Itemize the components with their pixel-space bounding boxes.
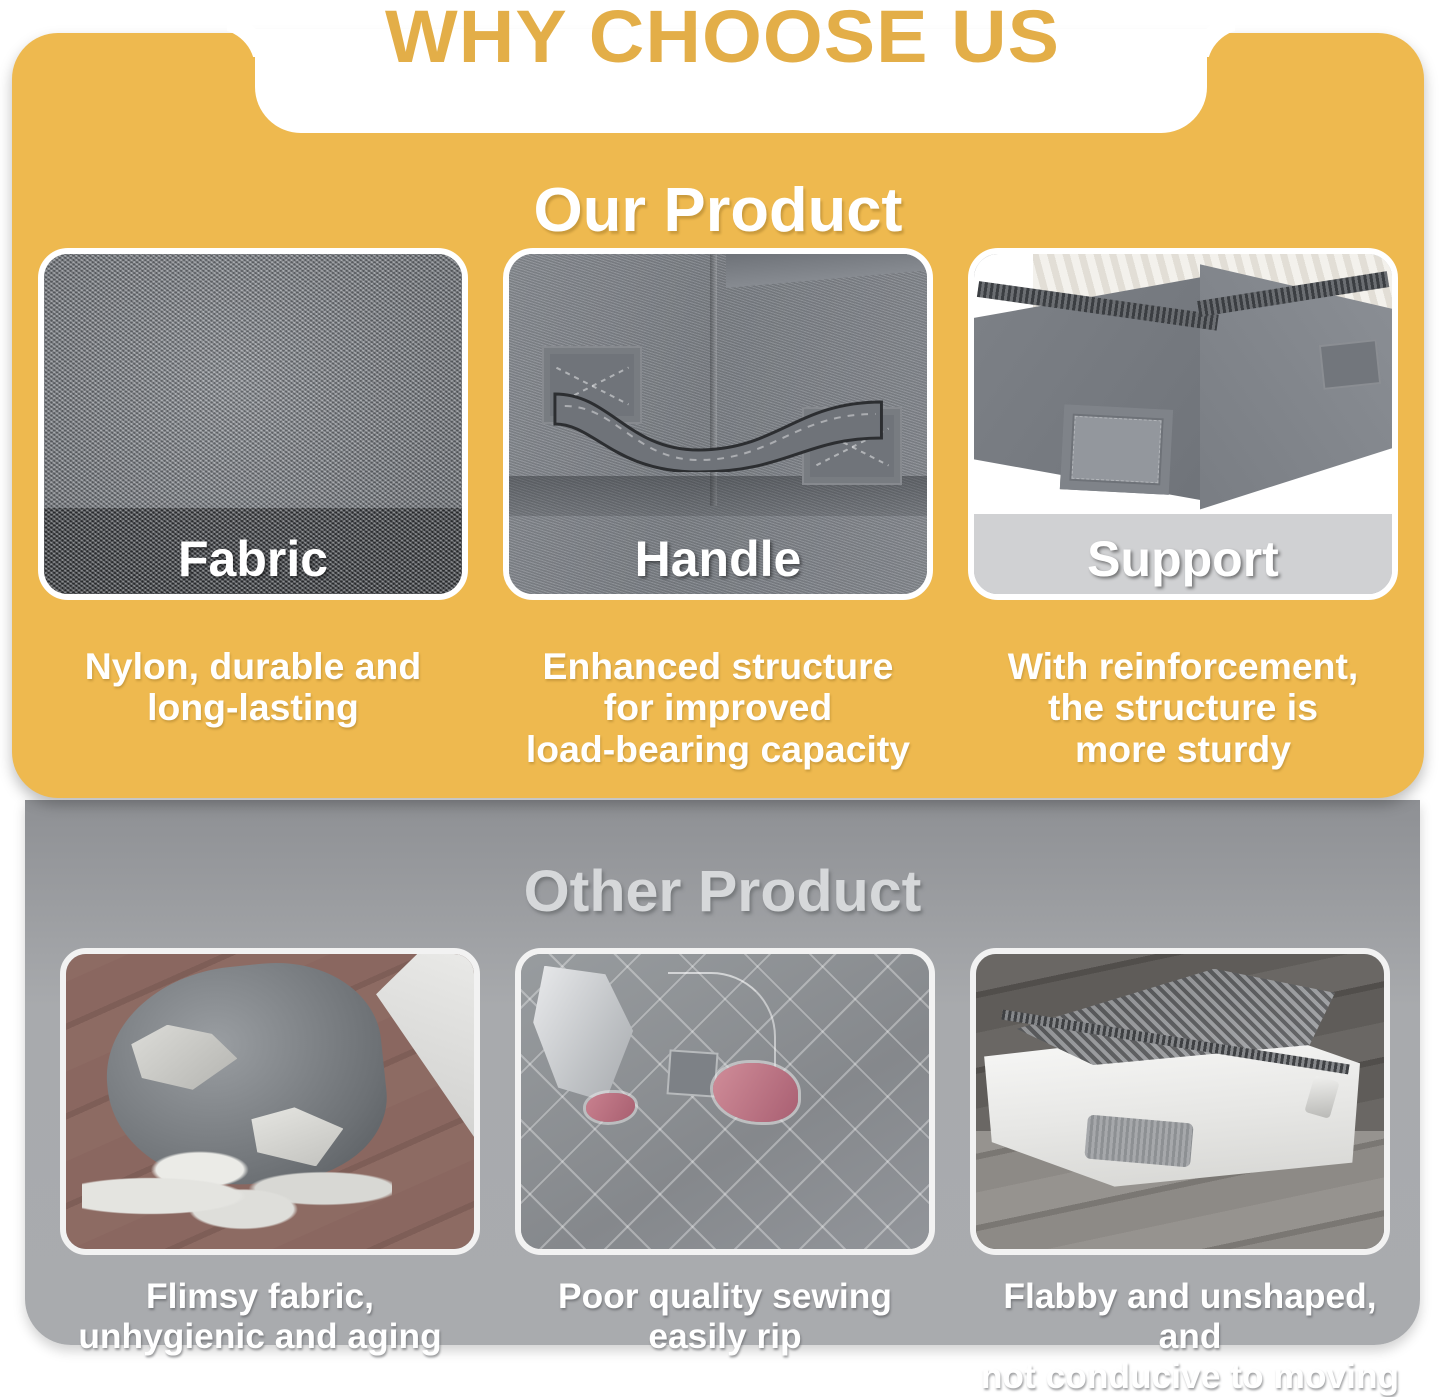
other-product-card-row <box>60 948 1390 1255</box>
other-card-flimsy-fabric[interactable] <box>60 948 480 1255</box>
our-product-heading: Our Product <box>0 175 1438 246</box>
our-product-captions: Nylon, durable andlong-lasting Enhanced … <box>38 646 1398 770</box>
other-card-poor-sewing[interactable] <box>515 948 935 1255</box>
destroyed-bag-image <box>66 954 474 1249</box>
other-caption: Flimsy fabric,unhygienic and aging <box>38 1277 482 1397</box>
collapsed-bag-image <box>976 954 1384 1249</box>
product-card-label: Support <box>974 530 1392 594</box>
other-product-heading: Other Product <box>0 858 1445 925</box>
other-card-flabby-bag[interactable] <box>970 948 1390 1255</box>
other-caption: Flabby and unshaped, andnot conducive to… <box>968 1277 1412 1397</box>
our-product-card-row: Fabric Handle <box>38 248 1398 623</box>
our-product-panel: Our Product Fabric Handle <box>12 33 1424 798</box>
product-caption: Enhanced structurefor improvedload-beari… <box>501 646 935 770</box>
why-choose-us-title: WHY CHOOSE US <box>0 0 1445 79</box>
product-card-handle[interactable]: Handle <box>503 248 933 600</box>
product-card-support[interactable]: Support <box>968 248 1398 600</box>
product-caption: With reinforcement,the structure ismore … <box>966 646 1400 770</box>
product-card-fabric[interactable]: Fabric <box>38 248 468 600</box>
other-product-captions: Flimsy fabric,unhygienic and aging Poor … <box>40 1277 1410 1397</box>
product-caption: Nylon, durable andlong-lasting <box>36 646 470 770</box>
torn-quilted-fabric-image <box>521 954 929 1249</box>
handle-strap-icon <box>551 376 885 472</box>
product-card-label: Fabric <box>44 530 462 594</box>
other-caption: Poor quality sewingeasily rip <box>503 1277 947 1397</box>
product-card-label: Handle <box>509 530 927 594</box>
